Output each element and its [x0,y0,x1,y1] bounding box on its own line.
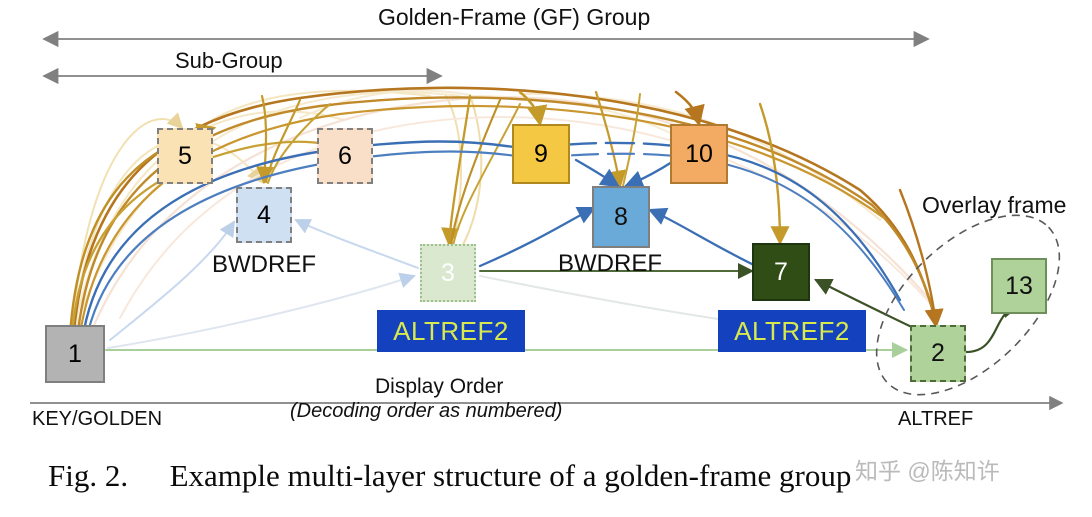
axis-label-altref: ALTREF [898,408,973,431]
frame-box-3[interactable]: 3 [420,244,476,302]
overlay-frame-label: Overlay frame [922,192,1066,219]
frame-box-4[interactable]: 4 [236,187,292,243]
frame-box-13[interactable]: 13 [991,258,1047,314]
altref2-bar-left[interactable]: ALTREF2 [377,310,525,352]
caption-text: Example multi-layer structure of a golde… [170,458,852,493]
altref2-bar-right[interactable]: ALTREF2 [718,310,866,352]
green-reference-arcs [106,271,1018,352]
frame-box-9[interactable]: 9 [512,124,570,184]
caption-prefix: Fig. 2. [48,458,128,493]
decoding-order-subtitle: (Decoding order as numbered) [290,400,562,423]
frame-box-10[interactable]: 10 [670,124,728,184]
frame-box-6[interactable]: 6 [317,128,373,184]
connector-layer [0,0,1092,517]
figure-canvas: Golden-Frame (GF) Group Sub-Group 1 5 4 … [0,0,1092,517]
frame-box-7[interactable]: 7 [752,243,810,301]
frame-box-1[interactable]: 1 [45,325,105,383]
gf-group-label: Golden-Frame (GF) Group [378,4,650,31]
frame-box-2[interactable]: 2 [910,325,966,382]
axis-label-key-golden: KEY/GOLDEN [32,408,162,431]
bwdref-label-left: BWDREF [212,251,316,279]
sub-group-label: Sub-Group [175,48,283,74]
overlay-frame-ellipse [844,183,1091,428]
display-order-title: Display Order [375,375,503,399]
figure-caption: Fig. 2. Example multi-layer structure of… [48,458,851,494]
frame-box-8[interactable]: 8 [592,186,650,248]
bwdref-label-right: BWDREF [558,250,662,278]
frame-box-5[interactable]: 5 [157,128,213,184]
